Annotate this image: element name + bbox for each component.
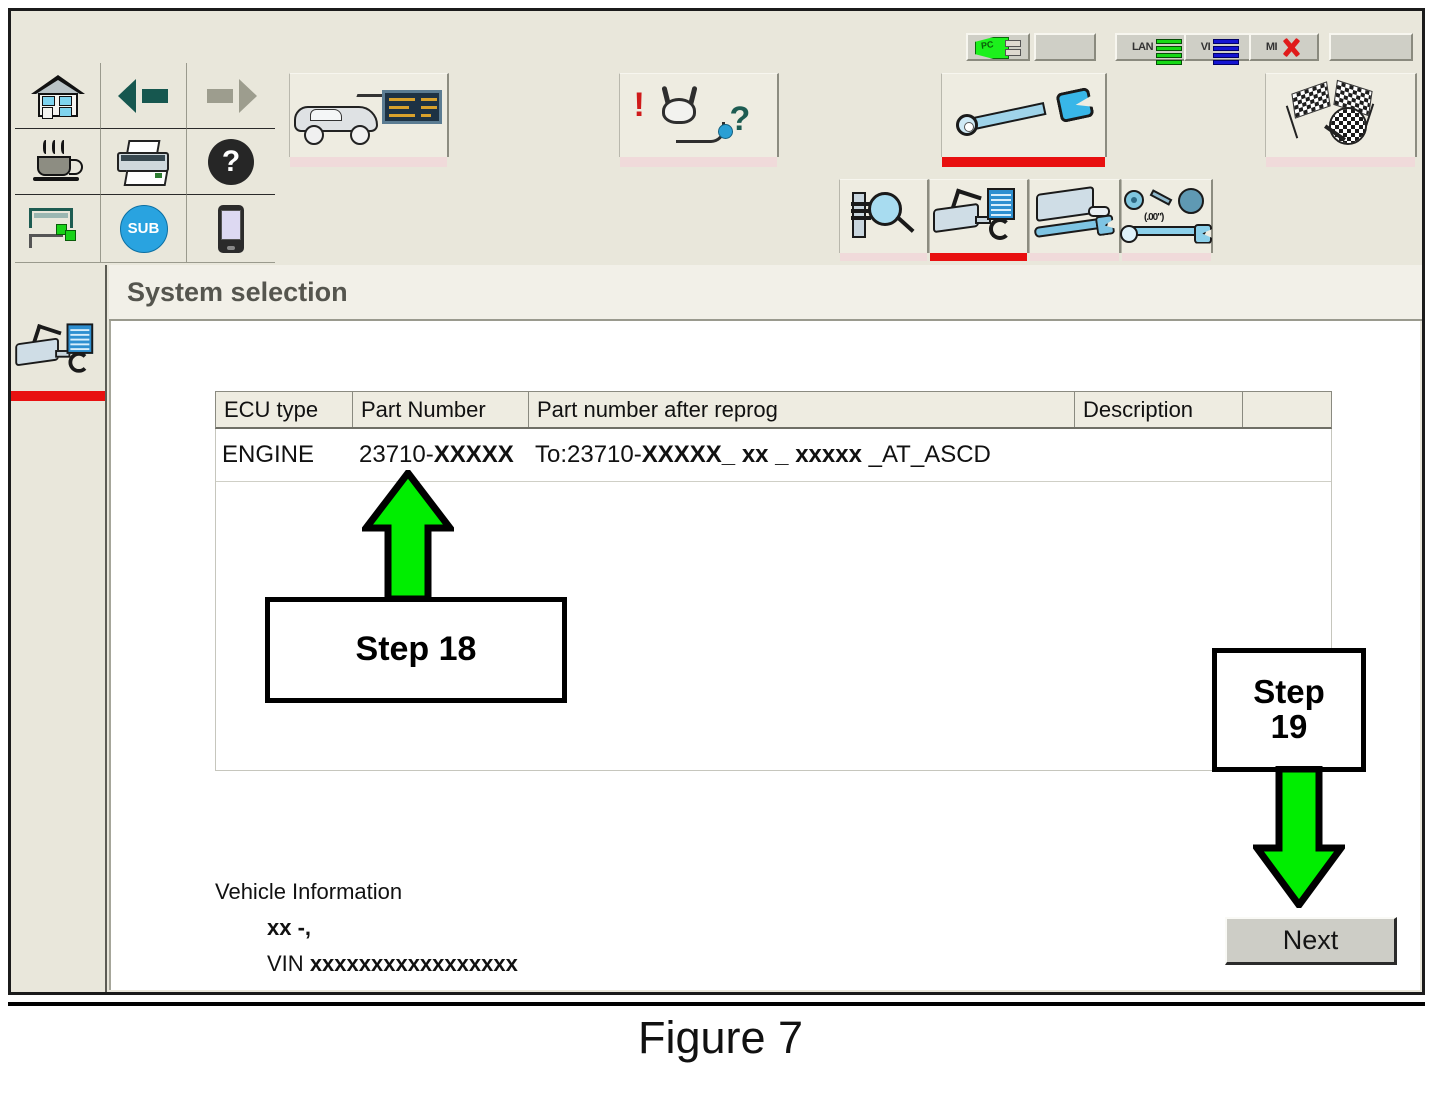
step-19-line2: 19 bbox=[1271, 708, 1308, 745]
vin-label: VIN bbox=[267, 951, 304, 976]
sidebar-active-underline bbox=[11, 391, 105, 401]
subtab-underline bbox=[1122, 253, 1211, 261]
vi-signal-bars bbox=[1213, 37, 1239, 57]
pc-plug-icon: PC bbox=[975, 37, 1021, 57]
step-18-arrow bbox=[362, 470, 454, 602]
vehicle-model-value: xx -, bbox=[267, 915, 311, 940]
coffee-cup-icon bbox=[31, 140, 85, 184]
subtab-underline bbox=[840, 253, 927, 261]
part-number-suffix: XXXXX bbox=[434, 441, 514, 468]
tab-diagnosis-system[interactable]: ! ? bbox=[619, 73, 779, 157]
blank-indicator-2 bbox=[1329, 33, 1413, 61]
table-header-row: ECU type Part Number Part number after r… bbox=[215, 391, 1332, 429]
sidebar-ecu-reprogramming[interactable] bbox=[11, 311, 105, 391]
subtab-underline-active bbox=[930, 253, 1027, 261]
printer-icon bbox=[115, 140, 173, 184]
vehicle-model-line: xx -, bbox=[267, 917, 518, 939]
figure-page: PC LAN VI MI bbox=[0, 0, 1441, 1099]
quick-icon-grid: ? SUB bbox=[15, 63, 277, 265]
sub-mode-icon: SUB bbox=[120, 205, 168, 253]
step-19-label: Step19 bbox=[1253, 675, 1325, 744]
rest-mode-button[interactable] bbox=[15, 129, 101, 195]
subtab-underline bbox=[1030, 253, 1119, 261]
step-19-callout: Step19 bbox=[1212, 648, 1366, 772]
figure-rule bbox=[8, 1002, 1425, 1006]
after-reprog-tail: _AT_ASCD bbox=[869, 441, 991, 468]
blank-indicator bbox=[1034, 33, 1096, 61]
ecu-reprogram-icon bbox=[931, 188, 1027, 246]
tab-maintenance[interactable] bbox=[941, 73, 1107, 157]
car-with-tester-icon bbox=[294, 88, 444, 144]
column-header-blank bbox=[1243, 392, 1331, 427]
ecu-box-wrench-icon bbox=[1030, 188, 1119, 246]
stethoscope-question-icon: ! ? bbox=[624, 84, 774, 148]
cell-ecu-type: ENGINE bbox=[222, 441, 359, 469]
part-number-prefix: 23710- bbox=[359, 441, 434, 468]
ecu-reprogram-icon bbox=[13, 323, 102, 378]
wrench-icon bbox=[954, 90, 1094, 142]
column-header-ecu-type: ECU type bbox=[216, 392, 353, 427]
step-18-label: Step 18 bbox=[356, 632, 477, 668]
lan-label: LAN bbox=[1132, 41, 1153, 53]
help-question-icon: ? bbox=[208, 139, 254, 185]
spark-plug-magnifier-icon bbox=[848, 188, 920, 246]
cell-part-number-after-reprog: To:23710-XXXXX_ xx _ xxxxx _AT_ASCD bbox=[535, 441, 1331, 469]
tab-diagnosis-vehicle[interactable] bbox=[289, 73, 449, 157]
page-title-bar: System selection bbox=[109, 265, 1422, 321]
step-18-callout: Step 18 bbox=[265, 597, 567, 703]
home-icon-button[interactable] bbox=[15, 63, 101, 129]
screen-capture-button[interactable] bbox=[15, 195, 101, 263]
column-header-description: Description bbox=[1075, 392, 1243, 427]
mi-label: MI bbox=[1266, 41, 1277, 53]
sub-mode-button[interactable]: SUB bbox=[101, 195, 187, 263]
vehicle-information: Vehicle Information xx -, VIN xxxxxxxxxx… bbox=[215, 881, 518, 975]
tab-underline bbox=[1266, 157, 1415, 167]
help-button[interactable]: ? bbox=[187, 129, 275, 195]
page-title: System selection bbox=[127, 277, 348, 308]
next-button[interactable]: Next bbox=[1225, 917, 1397, 965]
application-window: PC LAN VI MI bbox=[8, 8, 1425, 995]
tab-underline bbox=[290, 157, 447, 167]
vin-value: xxxxxxxxxxxxxxxxx bbox=[310, 951, 518, 976]
vehicle-info-title: Vehicle Information bbox=[215, 881, 518, 903]
vi-indicator: VI bbox=[1184, 33, 1256, 61]
vi-label: VI bbox=[1201, 41, 1210, 53]
vehicle-vin-line: VIN xxxxxxxxxxxxxxxxx bbox=[267, 953, 518, 975]
forward-arrow-icon bbox=[205, 77, 257, 115]
pc-connection-indicator: PC bbox=[966, 33, 1030, 61]
checkered-flags-icon bbox=[1281, 85, 1401, 147]
forward-button[interactable] bbox=[187, 63, 275, 129]
status-bar: PC LAN VI MI bbox=[11, 11, 1422, 61]
back-button[interactable] bbox=[101, 63, 187, 129]
tab-underline-active bbox=[942, 157, 1105, 167]
mobile-phone-icon bbox=[218, 205, 244, 253]
column-header-part-number: Part Number bbox=[353, 392, 529, 427]
screen-capture-icon bbox=[29, 208, 87, 250]
after-reprog-middle: _ xx _ xxxxx bbox=[722, 441, 869, 468]
print-button[interactable] bbox=[101, 129, 187, 195]
left-sidebar bbox=[11, 265, 107, 992]
home-icon bbox=[31, 75, 85, 117]
disconnected-x-icon bbox=[1280, 37, 1302, 57]
subtab-ecu-replacement[interactable] bbox=[1029, 179, 1121, 253]
column-header-part-number-after-reprog: Part number after reprog bbox=[529, 392, 1075, 427]
subtab-ecu-reprogramming[interactable] bbox=[929, 179, 1029, 253]
step-19-line1: Step bbox=[1253, 673, 1325, 710]
cell-part-number: 23710-XXXXX bbox=[359, 441, 535, 469]
subtab-component-inspection[interactable] bbox=[839, 179, 929, 253]
step-19-arrow bbox=[1253, 766, 1345, 908]
mi-indicator: MI bbox=[1249, 33, 1319, 61]
tab-special-function[interactable] bbox=[1265, 73, 1417, 157]
phone-button[interactable] bbox=[187, 195, 275, 263]
parts-wrench-icon: (.00") bbox=[1122, 188, 1211, 246]
figure-caption: Figure 7 bbox=[0, 1012, 1441, 1064]
lan-signal-bars bbox=[1156, 37, 1182, 57]
subtab-parts-adjustment[interactable]: (.00") bbox=[1121, 179, 1213, 253]
after-reprog-block1: XXXXX bbox=[642, 441, 722, 468]
back-arrow-icon bbox=[118, 77, 170, 115]
tab-underline bbox=[620, 157, 777, 167]
after-reprog-prefix: To:23710- bbox=[535, 441, 642, 468]
